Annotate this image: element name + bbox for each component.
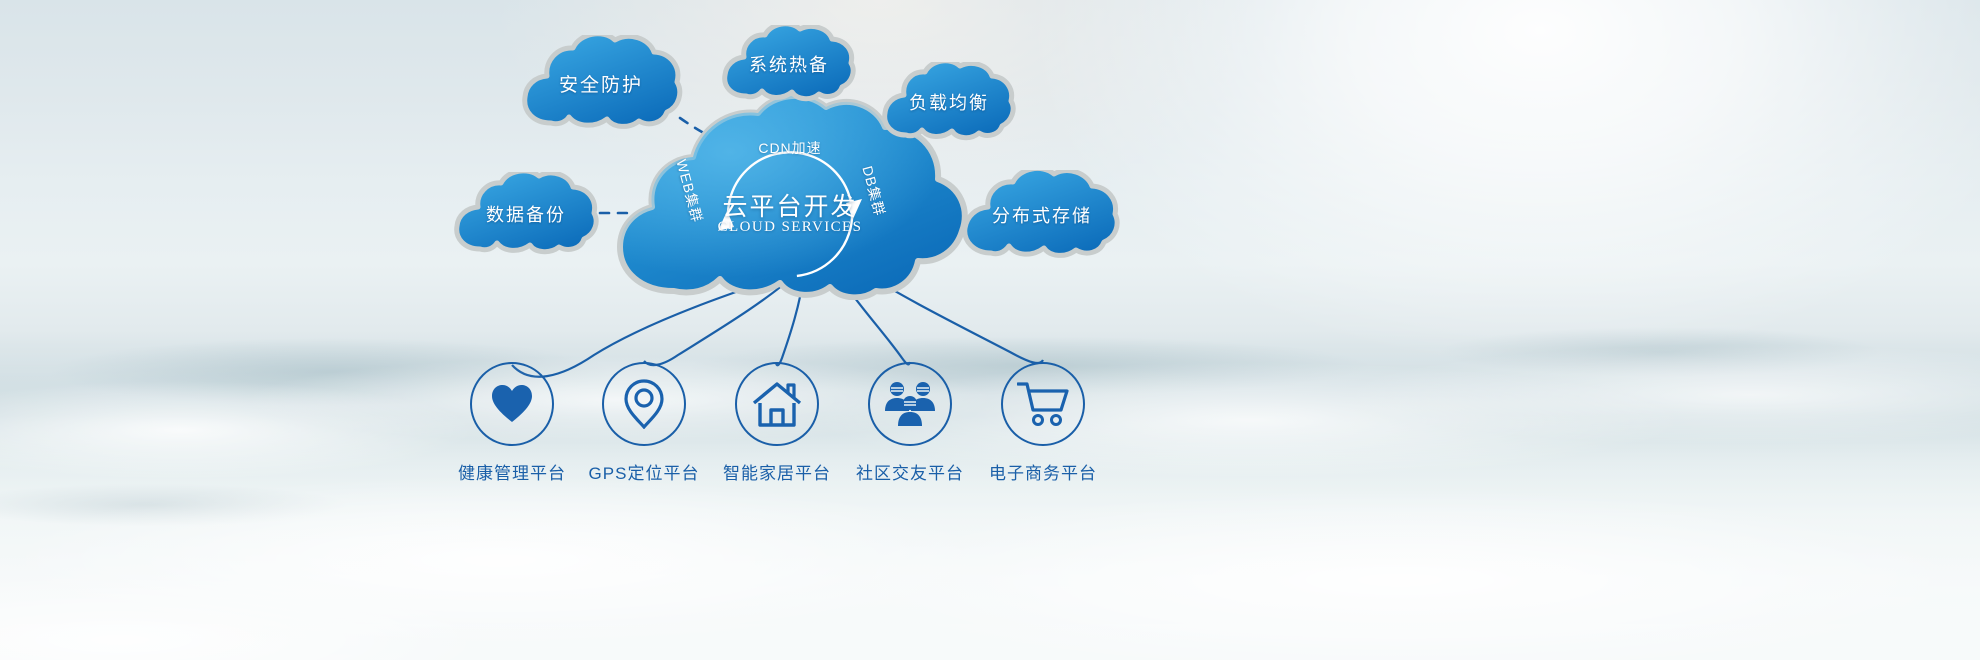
- node-circle[interactable]: [470, 362, 554, 446]
- feature-cloud-label: 安全防护: [559, 70, 643, 97]
- feature-cloud-label: 数据备份: [486, 201, 566, 227]
- shopping-cart-icon: [1017, 381, 1069, 427]
- platform-node-label: 社区交友平台: [845, 459, 975, 484]
- heart-icon: [490, 384, 534, 424]
- infographic-canvas: .solidline { fill:none; stroke:#1a5fa8; …: [0, 0, 1980, 660]
- feature-cloud-distributed-storage[interactable]: 分布式存储: [958, 170, 1126, 260]
- people-group-icon: [884, 380, 936, 428]
- node-circle[interactable]: [868, 362, 952, 446]
- platform-node-label: GPS定位平台: [579, 459, 709, 484]
- house-icon: [752, 381, 802, 427]
- feature-cloud-label: 负载均衡: [909, 89, 989, 115]
- platform-node-health[interactable]: 健康管理平台: [447, 362, 577, 484]
- platform-node-label: 智能家居平台: [712, 459, 842, 484]
- feature-cloud-label: 分布式存储: [992, 202, 1092, 228]
- platform-node-smarthome[interactable]: 智能家居平台: [712, 362, 842, 484]
- platform-node-gps[interactable]: GPS定位平台: [579, 362, 709, 484]
- node-circle[interactable]: [735, 362, 819, 446]
- platform-node-label: 电子商务平台: [978, 459, 1108, 484]
- platform-node-label: 健康管理平台: [447, 459, 577, 484]
- feature-cloud-data-backup[interactable]: 数据备份: [450, 172, 602, 256]
- platform-node-ecommerce[interactable]: 电子商务平台: [978, 362, 1108, 484]
- location-pin-icon: [624, 379, 664, 429]
- feature-cloud-load-balance[interactable]: 负载均衡: [878, 62, 1020, 142]
- feature-cloud-security[interactable]: 安全防护: [517, 35, 685, 131]
- feature-cloud-label: 系统热备: [749, 51, 829, 77]
- node-circle[interactable]: [602, 362, 686, 446]
- platform-node-community[interactable]: 社区交友平台: [845, 362, 975, 484]
- node-circle[interactable]: [1001, 362, 1085, 446]
- feature-cloud-hot-standby[interactable]: 系统热备: [718, 25, 860, 103]
